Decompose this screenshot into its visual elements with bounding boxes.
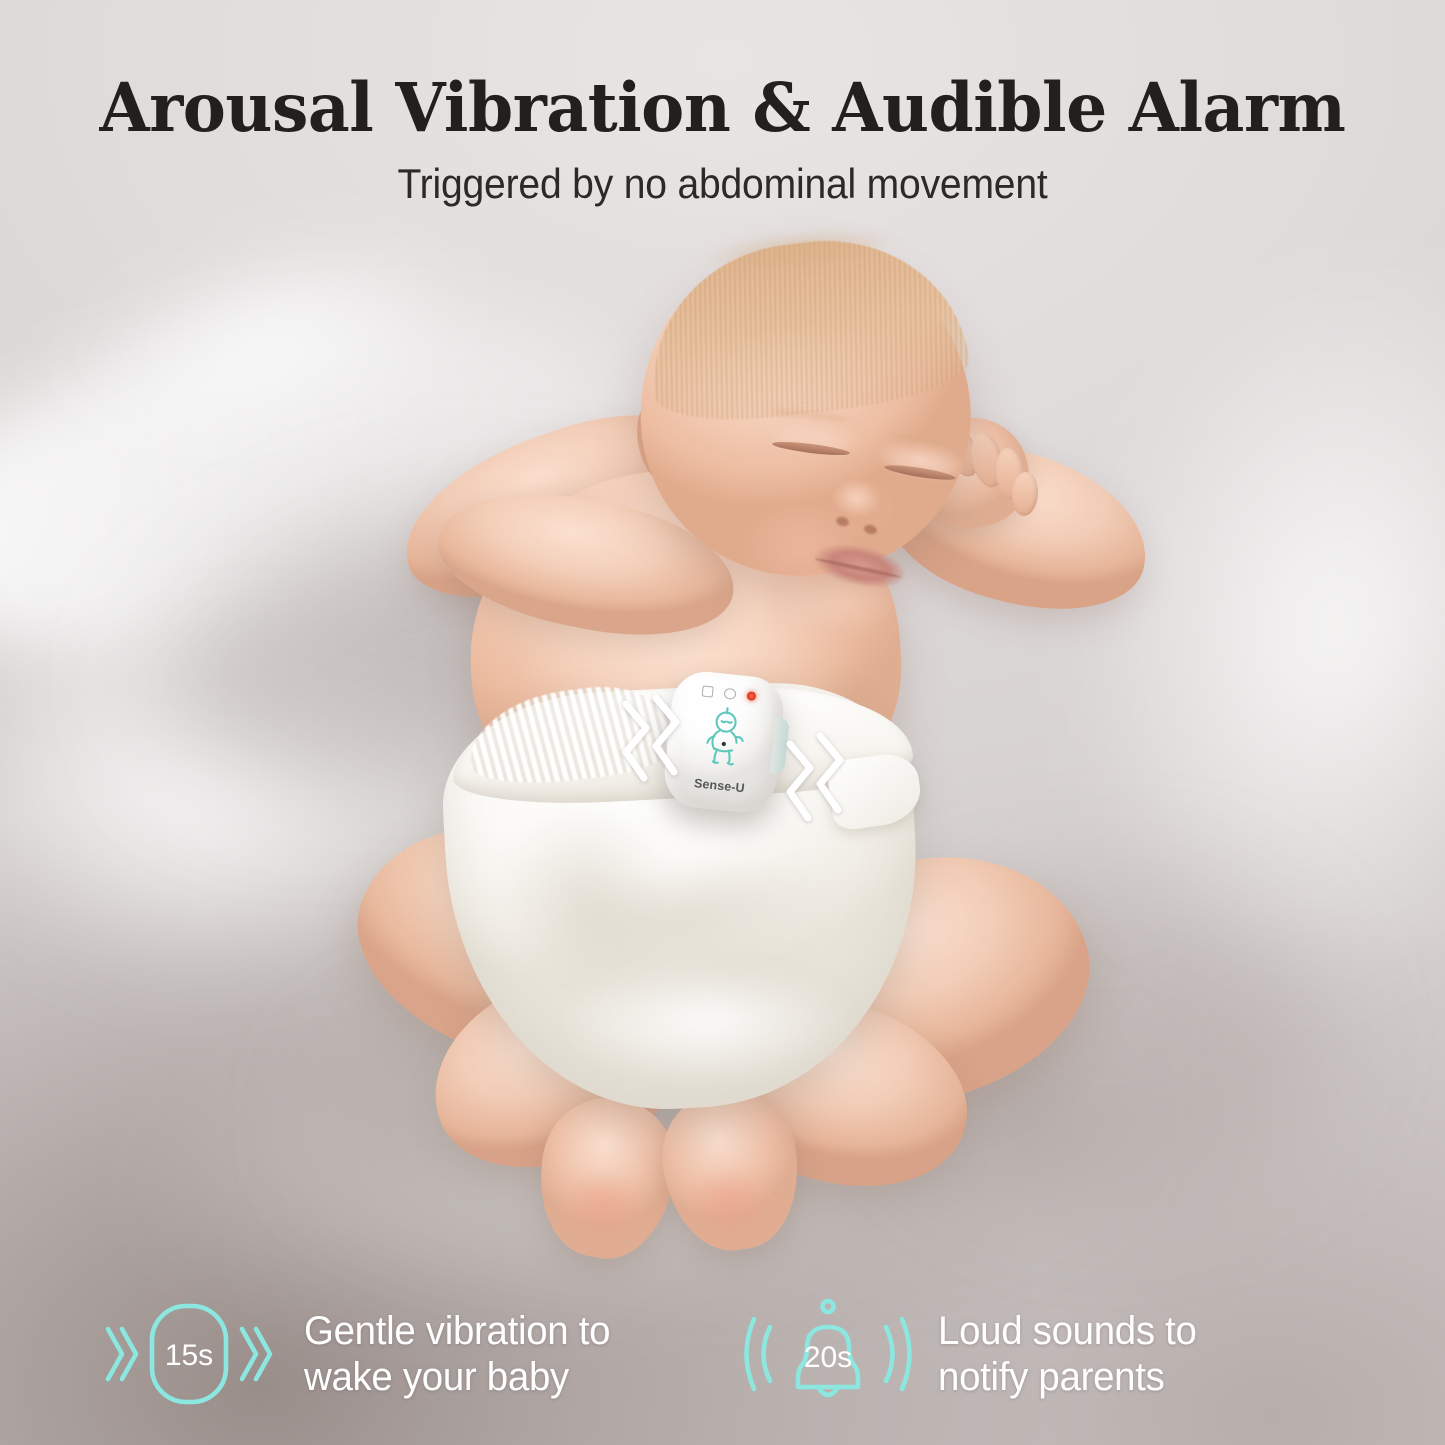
page-subtitle: Triggered by no abdominal movement: [51, 162, 1395, 206]
sheet-shadow: [905, 880, 1325, 1200]
feature-callouts: 15s Gentle vibration to wake your baby: [0, 1291, 1445, 1417]
vibration-wave-right: [778, 722, 862, 832]
alarm-duration-badge: 20s: [803, 1341, 851, 1374]
vibration-duration-badge: 15s: [165, 1339, 213, 1372]
header-block: Arousal Vibration & Audible Alarm Trigge…: [0, 74, 1445, 206]
sheet-fold: [45, 195, 496, 474]
diaper-highlight: [560, 960, 860, 1080]
sheet-fold: [1013, 211, 1445, 1050]
led-indicator: [747, 691, 757, 701]
page-title: Arousal Vibration & Audible Alarm: [25, 74, 1419, 141]
feature-alarm-label: Loud sounds to notify parents: [938, 1308, 1197, 1401]
vibration-wave-left: [612, 694, 690, 800]
feature-vibration-label: Gentle vibration to wake your baby: [304, 1308, 610, 1401]
battery-icon: [702, 685, 714, 697]
sheet-fold: [0, 248, 664, 711]
bluetooth-icon: [724, 688, 737, 700]
feature-vibration: 15s Gentle vibration to wake your baby: [96, 1291, 706, 1417]
product-feature-poster: Sense-U Arousal Vibration & Audible Alar…: [0, 0, 1445, 1445]
vibration-device-icon: 15s: [96, 1291, 282, 1417]
bell-icon: 20s: [740, 1291, 916, 1417]
feature-alarm: 20s Loud sounds to notify parents: [706, 1291, 1350, 1417]
